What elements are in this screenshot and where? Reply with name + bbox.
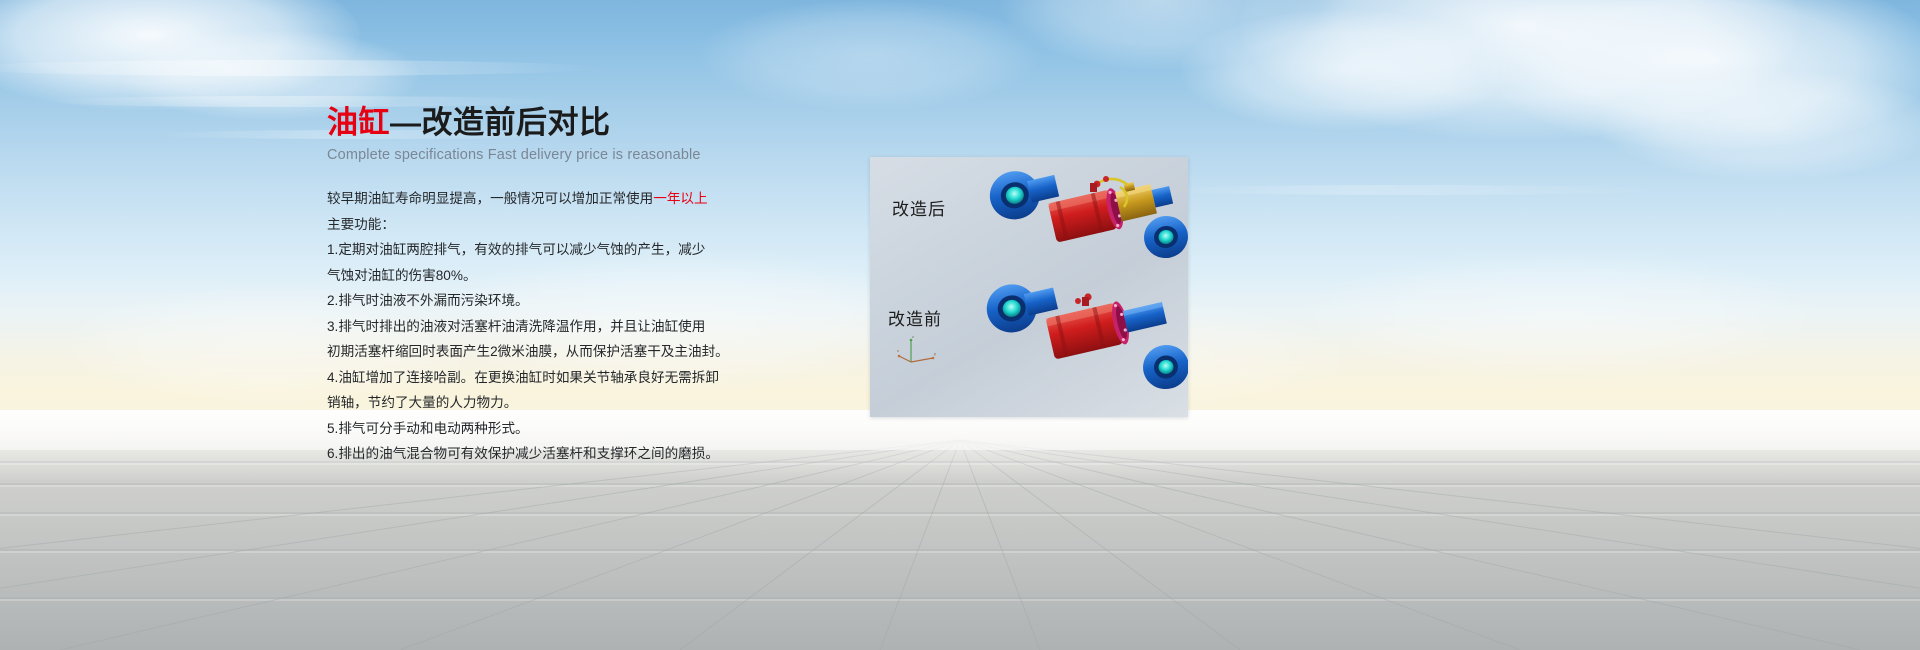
cylinder-before-modification-render: [970, 275, 1188, 415]
svg-text:z: z: [912, 334, 914, 339]
banner-copy: 油缸—改造前后对比 Complete specifications Fast d…: [327, 104, 887, 467]
label-before-modification: 改造前: [888, 305, 942, 330]
feature-line: 4.油缸增加了连接哈副。在更换油缸时如果关节轴承良好无需拆卸: [327, 365, 887, 391]
page-title: 油缸—改造前后对比: [327, 104, 887, 142]
svg-text:y: y: [934, 351, 936, 356]
hero-banner: 油缸—改造前后对比 Complete specifications Fast d…: [0, 0, 1920, 650]
feature-line: 初期活塞杆缩回时表面产生2微米油膜，从而保护活塞干及主油封。: [327, 339, 887, 365]
svg-text:x: x: [897, 348, 899, 353]
feature-line: 气蚀对油缸的伤害80%。: [327, 263, 887, 289]
cylinder-after-modification-render: [970, 165, 1188, 285]
intro-text: 较早期油缸寿命明显提高，一般情况可以增加正常使用: [327, 191, 653, 206]
feature-description: 较早期油缸寿命明显提高，一般情况可以增加正常使用一年以上 主要功能： 1.定期对…: [327, 186, 887, 467]
feature-line: 6.排出的油气混合物可有效保护减少活塞杆和支撑环之间的磨损。: [327, 441, 887, 467]
product-comparison-panel: 改造后 改造前 x z y: [870, 157, 1188, 417]
axis-gizmo-icon: x z y: [897, 332, 939, 368]
label-after-modification: 改造后: [892, 195, 946, 220]
feature-line: 1.定期对油缸两腔排气，有效的排气可以减少气蚀的产生，减少: [327, 237, 887, 263]
feature-line: 3.排气时排出的油液对活塞杆油清洗降温作用，并且让油缸使用: [327, 314, 887, 340]
intro-line: 较早期油缸寿命明显提高，一般情况可以增加正常使用一年以上: [327, 186, 887, 212]
page-subtitle: Complete specifications Fast delivery pr…: [327, 147, 887, 163]
page-title-highlight: 油缸: [327, 105, 390, 140]
intro-accent: 一年以上: [653, 191, 707, 206]
page-title-rest: —改造前后对比: [390, 105, 611, 140]
feature-line: 销轴，节约了大量的人力物力。: [327, 390, 887, 416]
features-label: 主要功能：: [327, 212, 887, 238]
feature-line: 2.排气时油液不外漏而污染环境。: [327, 288, 887, 314]
feature-line: 5.排气可分手动和电动两种形式。: [327, 416, 887, 442]
plaza-ground: [0, 410, 1920, 650]
